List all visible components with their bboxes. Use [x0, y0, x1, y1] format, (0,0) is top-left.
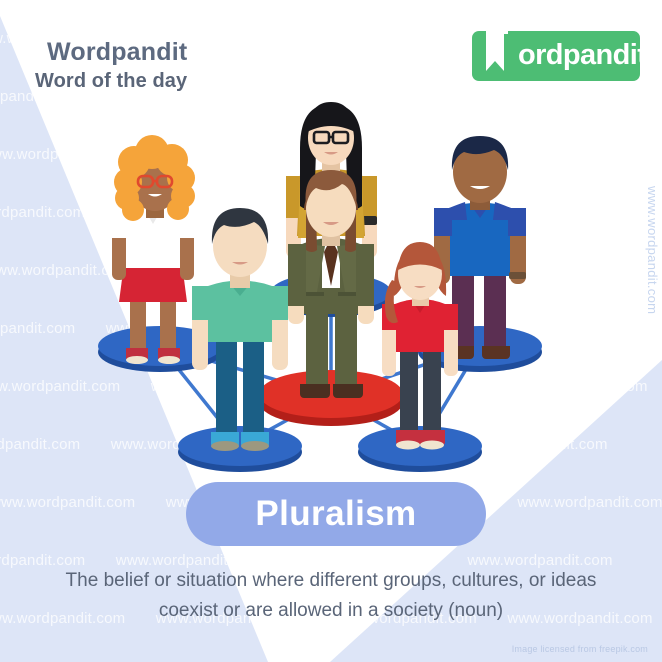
word-label: Pluralism [255, 494, 416, 534]
definition-line-1: The belief or situation where different … [0, 566, 662, 596]
wordpandit-logo[interactable]: ordpandit [472, 31, 640, 81]
brand-subtitle: Word of the day [35, 70, 187, 93]
platform-disc-boy [178, 426, 302, 472]
word-of-the-day-pill: Pluralism [186, 482, 486, 546]
definition-line-2: coexist or are allowed in a society (nou… [0, 596, 662, 626]
logo-text: ordpandit [518, 39, 640, 72]
word-definition: The belief or situation where different … [0, 566, 662, 626]
platform-disc-center-red [259, 370, 403, 426]
brand-title: Wordpandit [47, 38, 187, 67]
bookmark-w-icon [484, 31, 518, 81]
word-of-the-day-card: www.wordpandit.com www.wordpandit.com ww… [0, 0, 662, 662]
people-network-illustration [0, 96, 662, 496]
image-credit: Image licensed from freepik.com [512, 644, 648, 654]
